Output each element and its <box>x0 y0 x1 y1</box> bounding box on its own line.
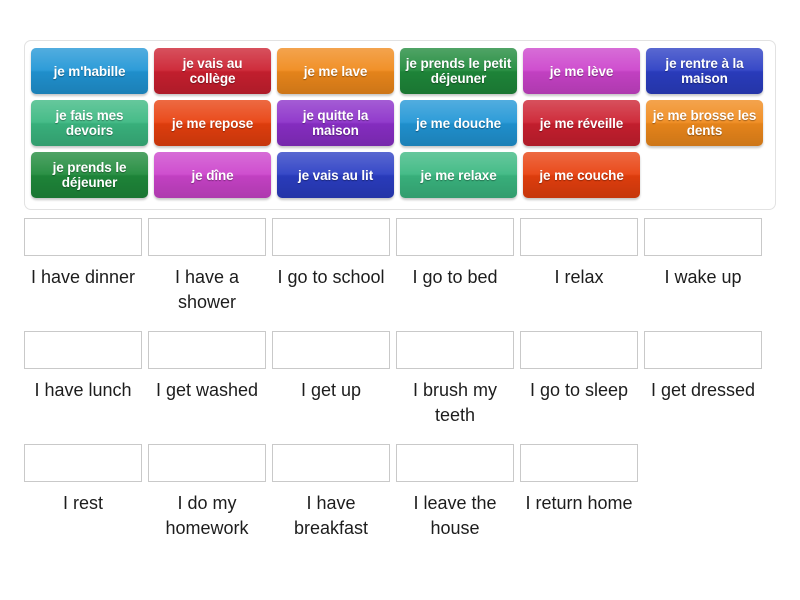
draggable-tile[interactable]: je prends le déjeuner <box>31 152 148 198</box>
answer-cell: I go to bed <box>396 218 514 331</box>
draggable-tile[interactable]: je rentre à la maison <box>646 48 763 94</box>
answer-cell: I get washed <box>148 331 266 444</box>
tile-label: je prends le déjeuner <box>35 160 144 190</box>
answer-row: I have dinner I have a shower I go to sc… <box>24 218 776 331</box>
drop-slot[interactable] <box>396 444 514 482</box>
drop-slot[interactable] <box>520 218 638 256</box>
drop-slot[interactable] <box>148 218 266 256</box>
answer-cell: I get up <box>272 331 390 444</box>
drop-slot[interactable] <box>644 218 762 256</box>
drop-slot[interactable] <box>520 331 638 369</box>
answer-cell: I leave the house <box>396 444 514 557</box>
tile-label: je rentre à la maison <box>650 56 759 86</box>
drop-slot[interactable] <box>24 444 142 482</box>
draggable-tile[interactable]: je me repose <box>154 100 271 146</box>
drop-slot[interactable] <box>24 218 142 256</box>
draggable-tile[interactable]: je me relaxe <box>400 152 517 198</box>
drop-slot[interactable] <box>24 331 142 369</box>
draggable-tile[interactable]: je me réveille <box>523 100 640 146</box>
tile-label: je prends le petit déjeuner <box>404 56 513 86</box>
draggable-tile[interactable]: je m'habille <box>31 48 148 94</box>
answer-cell: I rest <box>24 444 142 557</box>
draggable-tile[interactable]: je me brosse les dents <box>646 100 763 146</box>
answer-label: I have breakfast <box>269 491 393 541</box>
tile-label: je me couche <box>539 168 623 183</box>
answer-cell: I return home <box>520 444 638 557</box>
tile-label: je me douche <box>416 116 501 131</box>
drop-slot[interactable] <box>644 331 762 369</box>
answer-label: I brush my teeth <box>393 378 517 428</box>
answer-cell: I get dressed <box>644 331 762 444</box>
answer-grid: I have dinner I have a shower I go to sc… <box>24 218 776 557</box>
answer-label: I get up <box>269 378 393 403</box>
tile-label: je me lève <box>550 64 614 79</box>
answer-cell: I have a shower <box>148 218 266 331</box>
draggable-tile[interactable]: je vais au collège <box>154 48 271 94</box>
tile-label: je m'habille <box>54 64 126 79</box>
answer-label: I go to school <box>269 265 393 290</box>
answer-cell: I relax <box>520 218 638 331</box>
drop-slot[interactable] <box>272 218 390 256</box>
draggable-tile[interactable]: je me lève <box>523 48 640 94</box>
answer-label: I relax <box>517 265 641 290</box>
answer-label: I leave the house <box>393 491 517 541</box>
tile-label: je dîne <box>191 168 233 183</box>
tile-bank-row: je fais mes devoirs je me repose je quit… <box>31 100 769 148</box>
answer-cell: I have lunch <box>24 331 142 444</box>
drop-slot[interactable] <box>520 444 638 482</box>
answer-cell-empty <box>644 444 762 557</box>
answer-label: I have lunch <box>21 378 145 403</box>
tile-label: je me repose <box>172 116 253 131</box>
draggable-tile[interactable]: je quitte la maison <box>277 100 394 146</box>
answer-label: I return home <box>517 491 641 516</box>
draggable-tile[interactable]: je me lave <box>277 48 394 94</box>
tile-label: je me réveille <box>540 116 623 131</box>
answer-cell: I go to sleep <box>520 331 638 444</box>
tile-label: je fais mes devoirs <box>35 108 144 138</box>
drop-slot[interactable] <box>396 218 514 256</box>
tile-label: je me brosse les dents <box>650 108 759 138</box>
drop-slot[interactable] <box>272 331 390 369</box>
drop-slot[interactable] <box>148 444 266 482</box>
tile-bank-row: je m'habille je vais au collège je me la… <box>31 48 769 96</box>
answer-row: I have lunch I get washed I get up I bru… <box>24 331 776 444</box>
answer-cell: I brush my teeth <box>396 331 514 444</box>
tile-label: je vais au collège <box>158 56 267 86</box>
answer-label: I go to sleep <box>517 378 641 403</box>
activity-root: je m'habille je vais au collège je me la… <box>0 0 800 600</box>
tile-label: je vais au lit <box>298 168 373 183</box>
tile-bank-row: je prends le déjeuner je dîne je vais au… <box>31 152 769 200</box>
draggable-tile[interactable]: je me douche <box>400 100 517 146</box>
drop-slot[interactable] <box>148 331 266 369</box>
tile-label: je me lave <box>304 64 368 79</box>
answer-label: I have dinner <box>21 265 145 290</box>
answer-label: I do my homework <box>145 491 269 541</box>
answer-cell: I wake up <box>644 218 762 331</box>
draggable-tile[interactable]: je me couche <box>523 152 640 198</box>
tile-label: je quitte la maison <box>281 108 390 138</box>
drop-slot[interactable] <box>272 444 390 482</box>
draggable-tile[interactable]: je vais au lit <box>277 152 394 198</box>
answer-cell: I have dinner <box>24 218 142 331</box>
tile-bank: je m'habille je vais au collège je me la… <box>24 40 776 210</box>
answer-row: I rest I do my homework I have breakfast… <box>24 444 776 557</box>
answer-cell: I have breakfast <box>272 444 390 557</box>
answer-label: I go to bed <box>393 265 517 290</box>
draggable-tile[interactable]: je fais mes devoirs <box>31 100 148 146</box>
answer-label: I rest <box>21 491 145 516</box>
drop-slot[interactable] <box>396 331 514 369</box>
answer-label: I have a shower <box>145 265 269 315</box>
answer-cell: I do my homework <box>148 444 266 557</box>
draggable-tile[interactable]: je prends le petit déjeuner <box>400 48 517 94</box>
answer-label: I get washed <box>145 378 269 403</box>
answer-label: I get dressed <box>641 378 765 403</box>
tile-bank-empty-slot <box>646 152 763 198</box>
tile-label: je me relaxe <box>421 168 497 183</box>
draggable-tile[interactable]: je dîne <box>154 152 271 198</box>
answer-cell: I go to school <box>272 218 390 331</box>
answer-label: I wake up <box>641 265 765 290</box>
